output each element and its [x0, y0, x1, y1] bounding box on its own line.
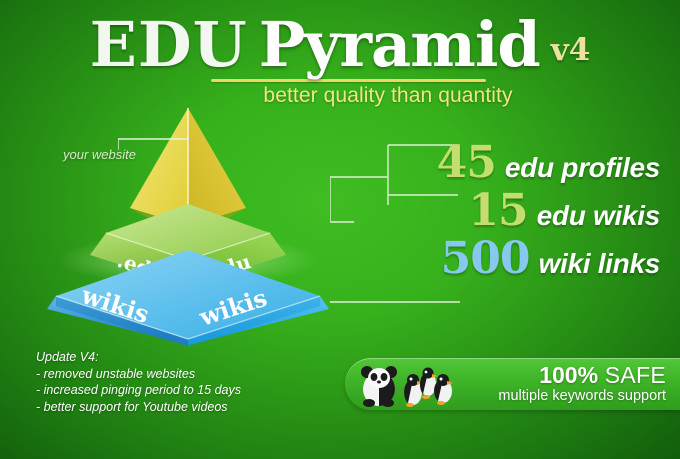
update-heading: Update V4:	[36, 349, 241, 366]
badge-icon-group	[345, 358, 470, 410]
header: EDU Pyramid v4 better quality than quant…	[0, 14, 680, 108]
update-notes: Update V4: - removed unstable websites -…	[36, 349, 241, 415]
safe-badge: 100% SAFE multiple keywords support	[345, 358, 680, 410]
stat-number: 500	[441, 237, 530, 281]
stat-label: edu profiles	[505, 152, 660, 184]
panda-and-penguins-icons	[345, 358, 470, 410]
version-badge: v4	[551, 35, 591, 66]
stat-label: edu wikis	[537, 200, 660, 232]
title-edu: EDU	[90, 14, 248, 76]
stats-list: 45 edu profiles 15 edu wikis 500 wiki li…	[360, 141, 660, 285]
update-item: - better support for Youtube videos	[36, 399, 241, 416]
panda-icon	[361, 366, 397, 407]
stat-row: 500 wiki links	[360, 237, 660, 285]
poster-canvas: EDU Pyramid v4 better quality than quant…	[0, 0, 680, 459]
penguin-icon	[434, 374, 453, 405]
page-title: EDU Pyramid v4	[0, 14, 680, 76]
stat-row: 45 edu profiles	[360, 141, 660, 189]
stat-number: 15	[468, 189, 527, 233]
title-pyramid: Pyramid	[259, 14, 540, 76]
pyramid-graphic: .edu edu wikis wikis	[38, 100, 348, 350]
safe-word: SAFE	[598, 362, 666, 388]
safe-headline: 100% SAFE	[470, 364, 666, 387]
keywords-support-text: multiple keywords support	[470, 389, 666, 404]
stat-number: 45	[437, 141, 496, 185]
stat-row: 15 edu wikis	[360, 189, 660, 237]
badge-text-group: 100% SAFE multiple keywords support	[470, 364, 680, 403]
penguin-icon	[404, 374, 423, 407]
update-item: - increased pinging period to 15 days	[36, 382, 241, 399]
update-item: - removed unstable websites	[36, 366, 241, 383]
callout-label-your-website: your website	[63, 147, 136, 162]
stat-label: wiki links	[539, 248, 661, 280]
safe-percent: 100%	[539, 362, 598, 388]
